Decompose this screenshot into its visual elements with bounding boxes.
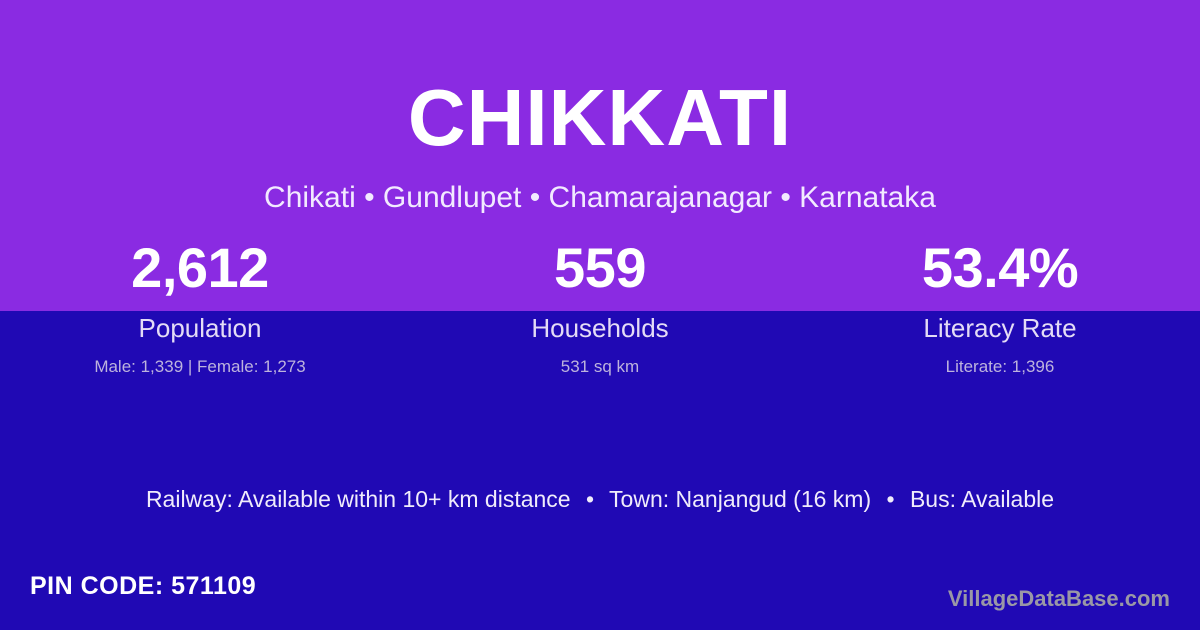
stats-row: 2,612 Population Male: 1,339 | Female: 1…: [0, 240, 1200, 375]
info-town: Town: Nanjangud (16 km): [609, 486, 871, 512]
stat-value-households: 559: [400, 240, 800, 296]
stat-label-households: Households: [400, 315, 800, 341]
footer: PIN CODE: 571109 VillageDataBase.com: [0, 558, 1200, 630]
stat-label-population: Population: [0, 315, 400, 341]
stat-value-literacy-rate: 53.4%: [800, 240, 1200, 296]
info-railway: Railway: Available within 10+ km distanc…: [146, 486, 571, 512]
info-bus: Bus: Available: [910, 486, 1054, 512]
header: CHIKKATI Chikati • Gundlupet • Chamaraja…: [0, 0, 1200, 216]
stat-sub-population: Male: 1,339 | Female: 1,273: [0, 358, 400, 375]
pin-code: PIN CODE: 571109: [30, 574, 256, 599]
amenities-info-line: Railway: Available within 10+ km distanc…: [0, 486, 1200, 514]
info-separator-1: •: [577, 486, 603, 514]
stat-value-population: 2,612: [0, 240, 400, 296]
stat-label-literacy-rate: Literacy Rate: [800, 315, 1200, 341]
stat-population: 2,612 Population Male: 1,339 | Female: 1…: [0, 240, 400, 375]
stat-literacy-rate: 53.4% Literacy Rate Literate: 1,396: [800, 240, 1200, 375]
breadcrumb: Chikati • Gundlupet • Chamarajanagar • K…: [0, 180, 1200, 216]
info-separator-2: •: [878, 486, 904, 514]
page-title: CHIKKATI: [0, 78, 1200, 158]
stat-sub-literacy-rate: Literate: 1,396: [800, 358, 1200, 375]
stat-households: 559 Households 531 sq km: [400, 240, 800, 375]
stat-sub-households: 531 sq km: [400, 358, 800, 375]
site-brand: VillageDataBase.com: [948, 588, 1170, 610]
